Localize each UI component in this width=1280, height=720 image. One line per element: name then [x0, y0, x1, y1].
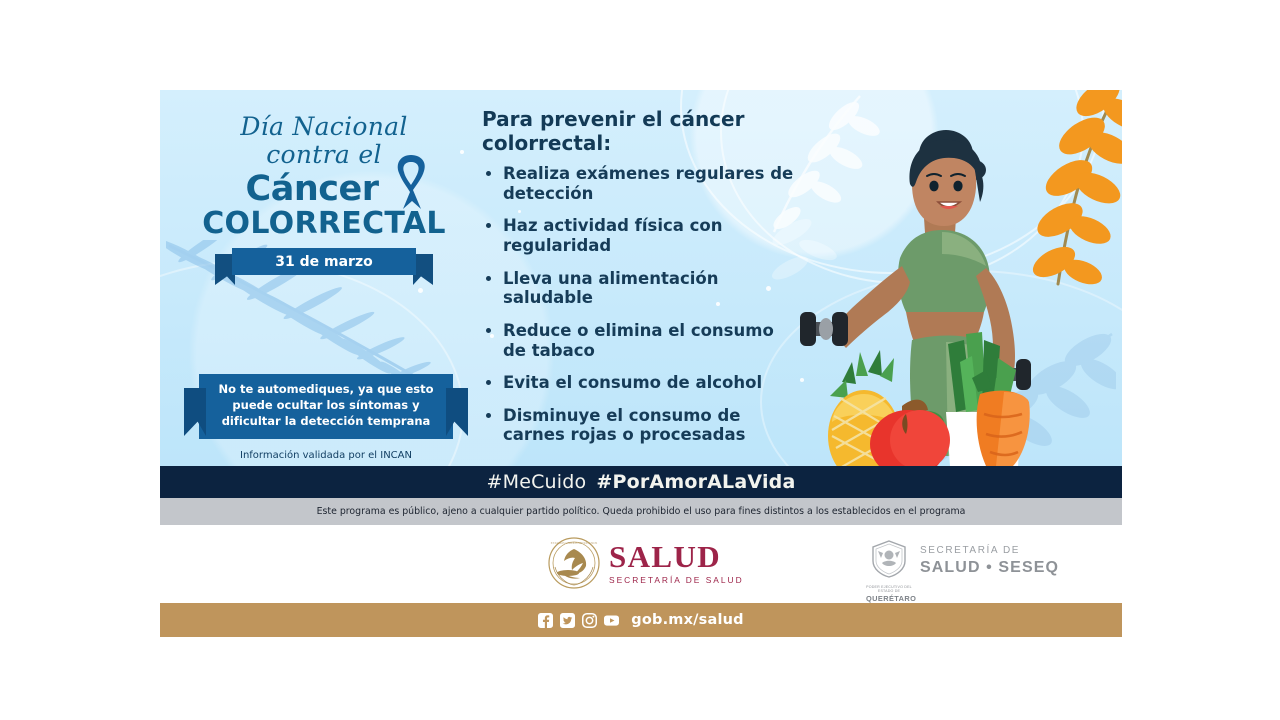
sparkle-dot: [418, 288, 423, 293]
legal-disclaimer-bar: Este programa es público, ajeno a cualqu…: [160, 498, 1122, 525]
title-cancer-row: Cáncer: [194, 170, 454, 208]
title-lockup: Día Nacional contra el Cáncer COLORRECTA…: [194, 114, 454, 275]
footer-gold-bar: gob.mx/salud: [160, 603, 1122, 637]
social-icons-group: [538, 613, 619, 628]
seseq-line-1: SECRETARÍA DE: [920, 545, 1059, 557]
hashtag-bar: #MeCuido #PorAmorALaVida: [160, 466, 1122, 498]
mexican-eagle-seal-icon: ESTADOS UNIDOS MEXICANOS: [548, 537, 600, 589]
disclaimer-text: Este programa es público, ajeno a cualqu…: [317, 506, 966, 517]
list-item: Lleva una alimentación saludable: [482, 269, 800, 308]
list-item: Haz actividad física con regularidad: [482, 216, 800, 255]
twitter-icon[interactable]: [560, 613, 575, 628]
warning-block: No te automediques, ya que esto puede oc…: [190, 374, 462, 461]
title-line-1: Día Nacional: [194, 114, 454, 141]
salud-word: SALUD: [609, 541, 744, 572]
seseq-line-2: SALUD • SESEQ: [920, 559, 1059, 577]
woman-exercising-with-groceries-illustration: [796, 126, 1122, 466]
queretaro-caption: QUERÉTARO: [866, 594, 912, 603]
list-item: Realiza exámenes regulares de detección: [482, 164, 800, 203]
gob-mx-url[interactable]: gob.mx/salud: [631, 612, 743, 628]
seseq-state-logo: PODER EJECUTIVO DEL ESTADO DE QUERÉTARO …: [866, 539, 1059, 603]
prevention-block: Para prevenir el cáncer colorrectal: Rea…: [482, 108, 800, 458]
poster-artboard: Día Nacional contra el Cáncer COLORRECTA…: [160, 90, 1122, 466]
prevention-heading: Para prevenir el cáncer colorrectal:: [482, 108, 800, 155]
title-cancer: Cáncer: [246, 170, 379, 208]
queretaro-shield-block: PODER EJECUTIVO DEL ESTADO DE QUERÉTARO: [866, 539, 912, 603]
awareness-ribbon-icon: [388, 154, 434, 212]
hashtag-mecuido: #MeCuido: [486, 471, 586, 493]
logo-strip: ESTADOS UNIDOS MEXICANOS SALUD SECRETARÍ…: [160, 525, 1122, 603]
list-item: Evita el consumo de alcohol: [482, 373, 800, 393]
list-item: Disminuye el consumo de carnes rojas o p…: [482, 406, 800, 445]
list-item: Reduce o elimina el consumo de tabaco: [482, 321, 800, 360]
facebook-icon[interactable]: [538, 613, 553, 628]
sparkle-dot: [460, 150, 464, 154]
salud-federal-logo: ESTADOS UNIDOS MEXICANOS SALUD SECRETARÍ…: [548, 537, 744, 589]
queretaro-shield-icon: [869, 539, 909, 579]
warning-banner: No te automediques, ya que esto puede oc…: [199, 374, 453, 439]
youtube-icon[interactable]: [604, 613, 619, 628]
seseq-wordmark: SECRETARÍA DE SALUD • SESEQ: [920, 539, 1059, 577]
warning-tail-left: [184, 388, 206, 436]
salud-wordmark: SALUD SECRETARÍA DE SALUD: [609, 541, 744, 585]
date-text: 31 de marzo: [275, 254, 372, 270]
salud-subtitle: SECRETARÍA DE SALUD: [609, 575, 744, 585]
dumbbell-left: [800, 312, 848, 346]
svg-text:ESTADOS UNIDOS MEXICANOS: ESTADOS UNIDOS MEXICANOS: [551, 541, 598, 545]
warning-text: No te automediques, ya que esto puede oc…: [208, 382, 444, 430]
campaign-poster: Día Nacional contra el Cáncer COLORRECTA…: [160, 90, 1122, 637]
hashtag-poramoralavida: #PorAmorALaVida: [596, 471, 795, 493]
queretaro-caption-small: PODER EJECUTIVO DEL ESTADO DE: [866, 585, 912, 593]
instagram-icon[interactable]: [582, 613, 597, 628]
warning-source: Información validada por el INCAN: [190, 450, 462, 461]
screenshot-canvas: Día Nacional contra el Cáncer COLORRECTA…: [0, 0, 1280, 720]
prevention-list: Realiza exámenes regulares de detección …: [482, 164, 800, 445]
title-colorrectal: COLORRECTAL: [194, 207, 454, 241]
date-ribbon-band: 31 de marzo: [232, 248, 416, 275]
date-ribbon: 31 de marzo: [232, 248, 416, 275]
warning-tail-right: [446, 388, 468, 436]
